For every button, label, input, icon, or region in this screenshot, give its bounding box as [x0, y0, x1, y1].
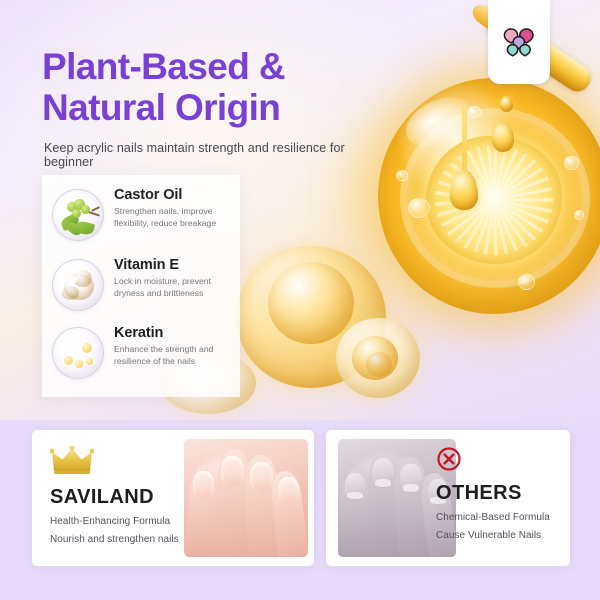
- keratin-beads-icon: [52, 327, 104, 379]
- comparison-brand-name: SAVILAND: [50, 486, 200, 509]
- headline-line-2: Natural Origin: [42, 87, 392, 128]
- gold-crown-icon: [50, 446, 94, 476]
- comparison-line-1: Health-Enhancing Formula: [50, 516, 200, 527]
- page-subtitle: Keep acrylic nails maintain strength and…: [44, 141, 394, 169]
- ingredient-name: Keratin: [114, 325, 242, 341]
- ingredient-description: Enhance the strength and resilience of t…: [114, 343, 242, 368]
- comparison-line-1: Chemical-Based Formula: [436, 512, 570, 523]
- comparison-line-2: Nourish and strengthen nails: [50, 534, 200, 545]
- comparison-line-2: Cause Vulnerable Nails: [436, 530, 570, 541]
- castor-plant-icon: [52, 189, 104, 241]
- ingredient-name: Vitamin E: [114, 257, 242, 273]
- comparison-brand-name: OTHERS: [436, 482, 570, 505]
- page-title: Plant-Based & Natural Origin: [42, 46, 392, 129]
- healthy-nails-photo: [184, 439, 308, 557]
- ingredient-row-castor-oil: Castor Oil Strengthen nails, improve fle…: [52, 187, 242, 249]
- brand-logo-badge: [488, 0, 550, 84]
- headline-line-1: Plant-Based &: [42, 46, 285, 87]
- red-circle-x-icon: [436, 446, 462, 472]
- comparison-card-saviland: SAVILAND Health-Enhancing Formula Nouris…: [32, 430, 314, 566]
- oil-capsule-icon: [52, 259, 104, 311]
- promo-image: Plant-Based & Natural Origin Keep acryli…: [0, 0, 600, 600]
- comparison-card-others: OTHERS Chemical-Based Formula Cause Vuln…: [326, 430, 570, 566]
- ingredient-description: Strengthen nails, improve flexibility, r…: [114, 205, 242, 230]
- ingredient-name: Castor Oil: [114, 187, 242, 203]
- ingredient-row-keratin: Keratin Enhance the strength and resilie…: [52, 325, 242, 387]
- four-petal-heart-flower-logo: [499, 22, 539, 62]
- ingredient-panel: Castor Oil Strengthen nails, improve fle…: [42, 175, 240, 397]
- ingredient-description: Lock in moisture, prevent dryness and br…: [114, 275, 242, 300]
- ingredient-row-vitamin-e: Vitamin E Lock in moisture, prevent dryn…: [52, 257, 242, 319]
